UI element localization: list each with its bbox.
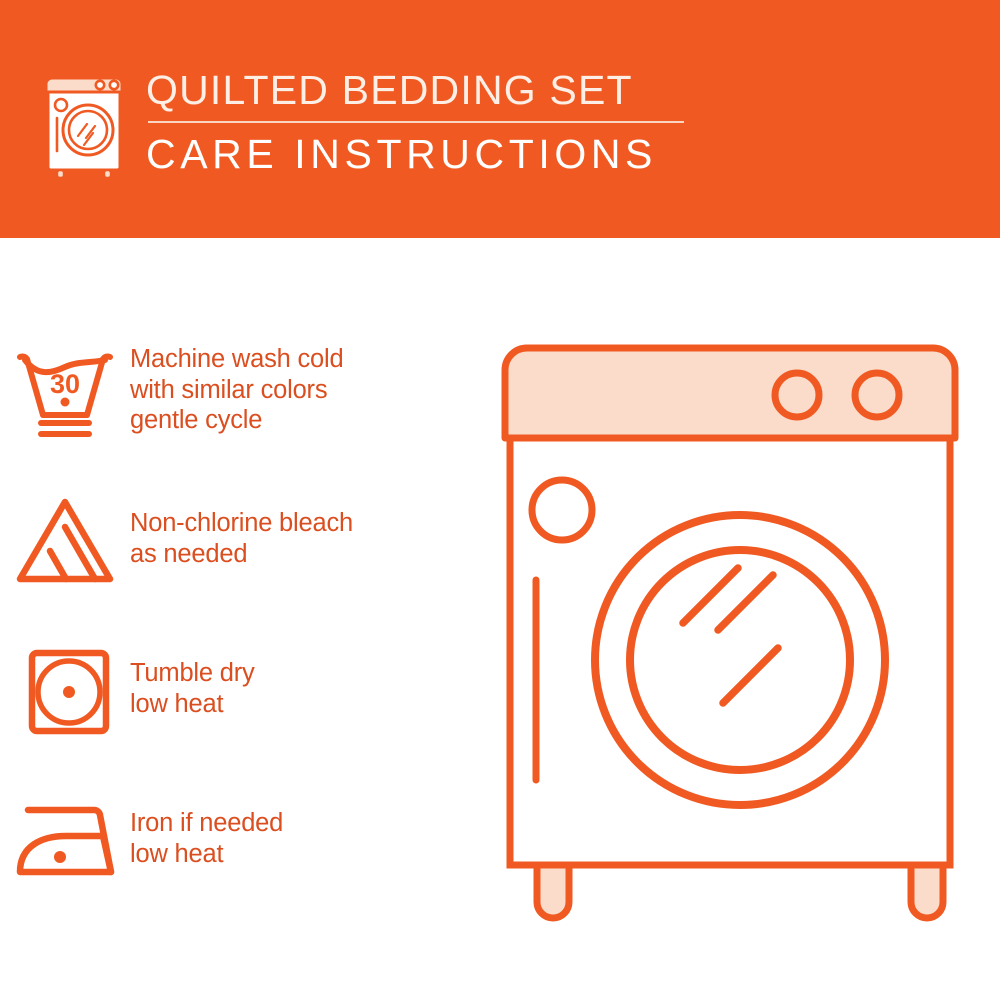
care-item-label: Machine wash cold with similar colors ge…	[130, 338, 343, 436]
leg-left	[537, 865, 569, 918]
title-divider	[148, 121, 684, 123]
leg-right	[911, 865, 943, 918]
washing-machine-icon	[44, 72, 128, 180]
care-item: Non-chlorine bleach as needed	[0, 486, 470, 596]
wash-tub-30-gentle-icon: 30	[0, 338, 130, 448]
knob-right	[855, 373, 899, 417]
care-item: Iron if needed low heat	[0, 786, 470, 896]
non-chlorine-bleach-triangle-icon	[0, 486, 130, 596]
care-item: Tumble dry low heat	[0, 638, 470, 748]
iron-low-heat-icon	[0, 786, 130, 896]
tumble-dry-low-heat-icon	[0, 638, 130, 748]
header-title-group: QUILTED BEDDING SET CARE INSTRUCTIONS	[146, 66, 706, 179]
page-subtitle: CARE INSTRUCTIONS	[146, 129, 706, 179]
front-load-washing-machine-illustration	[490, 330, 990, 930]
indicator-circle	[532, 480, 592, 540]
door-inner-ring	[630, 550, 850, 770]
knob-left	[775, 373, 819, 417]
care-item: 30 Machine wash cold with similar colors…	[0, 338, 470, 448]
page-title: QUILTED BEDDING SET	[146, 66, 706, 114]
care-item-label: Iron if needed low heat	[130, 786, 283, 869]
care-instruction-list: 30 Machine wash cold with similar colors…	[0, 238, 470, 1000]
care-item-label: Tumble dry low heat	[130, 638, 255, 719]
care-item-label: Non-chlorine bleach as needed	[130, 486, 353, 569]
wash-temperature-label: 30	[50, 369, 80, 399]
header-banner: QUILTED BEDDING SET CARE INSTRUCTIONS	[0, 0, 1000, 238]
care-instructions-page: QUILTED BEDDING SET CARE INSTRUCTIONS 30	[0, 0, 1000, 1000]
